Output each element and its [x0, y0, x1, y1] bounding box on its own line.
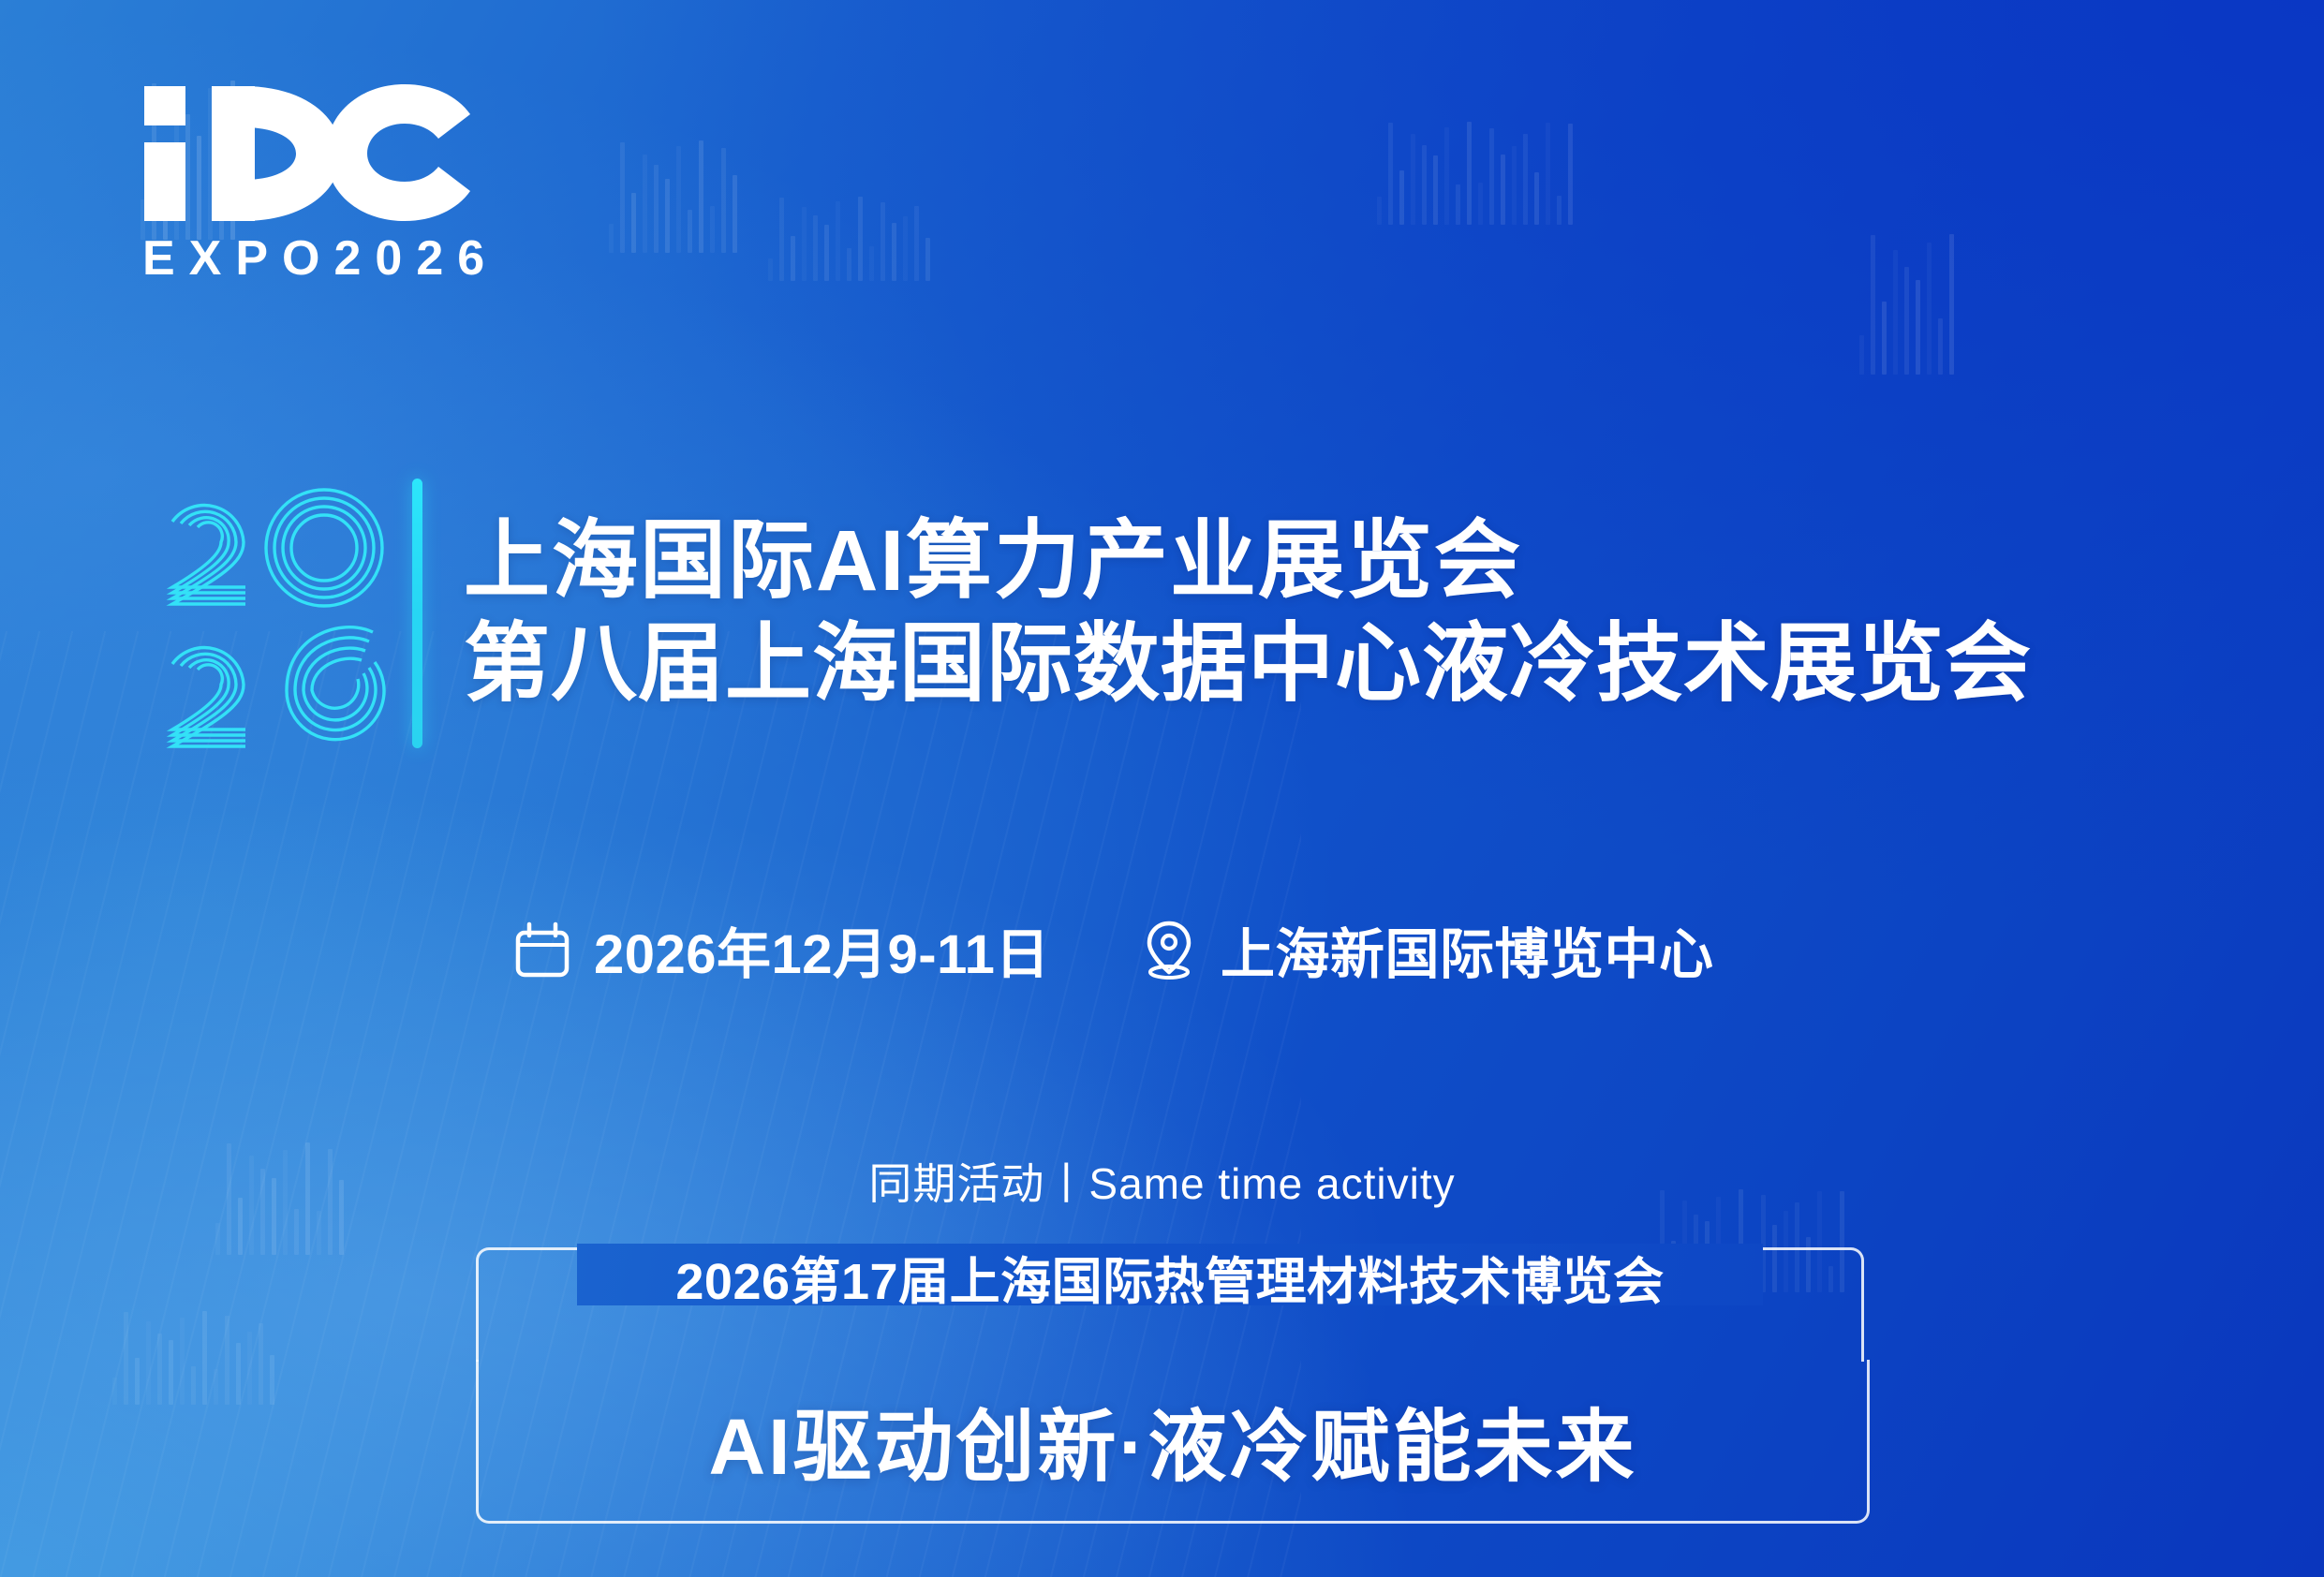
event-title-primary: 上海国际AI算力产业展览会 — [464, 517, 2032, 607]
event-venue-text: 上海新国际博览中心 — [1221, 910, 1714, 989]
brand-wordmark: EXPO2026 — [142, 234, 498, 283]
co-event-title: 2026第17届上海国际热管理材料技术博览会 — [651, 1240, 1688, 1314]
poster-canvas: EXPO2026 — [0, 0, 2324, 1577]
brand-logo[interactable]: EXPO2026 — [142, 82, 498, 283]
title-group: 上海国际AI算力产业展览会 第八届上海国际数据中心液冷技术展览会 — [464, 473, 2032, 754]
co-event-bracket: 2026第17届上海国际热管理材料技术博览会 — [476, 1247, 1864, 1362]
location-pin-icon — [1140, 919, 1198, 980]
slogan-box: AI驱动创新·液冷赋能未来 — [476, 1360, 1870, 1524]
year-2026-outline-icon — [159, 473, 393, 754]
event-date-text: 2026年12月9-11日 — [594, 910, 1050, 989]
idc-logo-mark — [142, 82, 472, 221]
calendar-icon — [513, 921, 571, 979]
title-divider-bar — [412, 479, 422, 748]
event-title-secondary: 第八届上海国际数据中心液冷技术展览会 — [464, 620, 2032, 710]
event-meta-row: 2026年12月9-11日 上海新国际博览中心 — [513, 910, 1713, 989]
slogan-text: AI驱动创新·液冷赋能未来 — [709, 1384, 1637, 1497]
event-date-item: 2026年12月9-11日 — [513, 910, 1050, 989]
year-2026-graphic — [159, 473, 393, 754]
headline-block: 上海国际AI算力产业展览会 第八届上海国际数据中心液冷技术展览会 — [159, 473, 2032, 754]
same-time-activity-label: 同期活动丨Same time activity — [0, 1150, 2324, 1212]
event-venue-item: 上海新国际博览中心 — [1140, 910, 1714, 989]
